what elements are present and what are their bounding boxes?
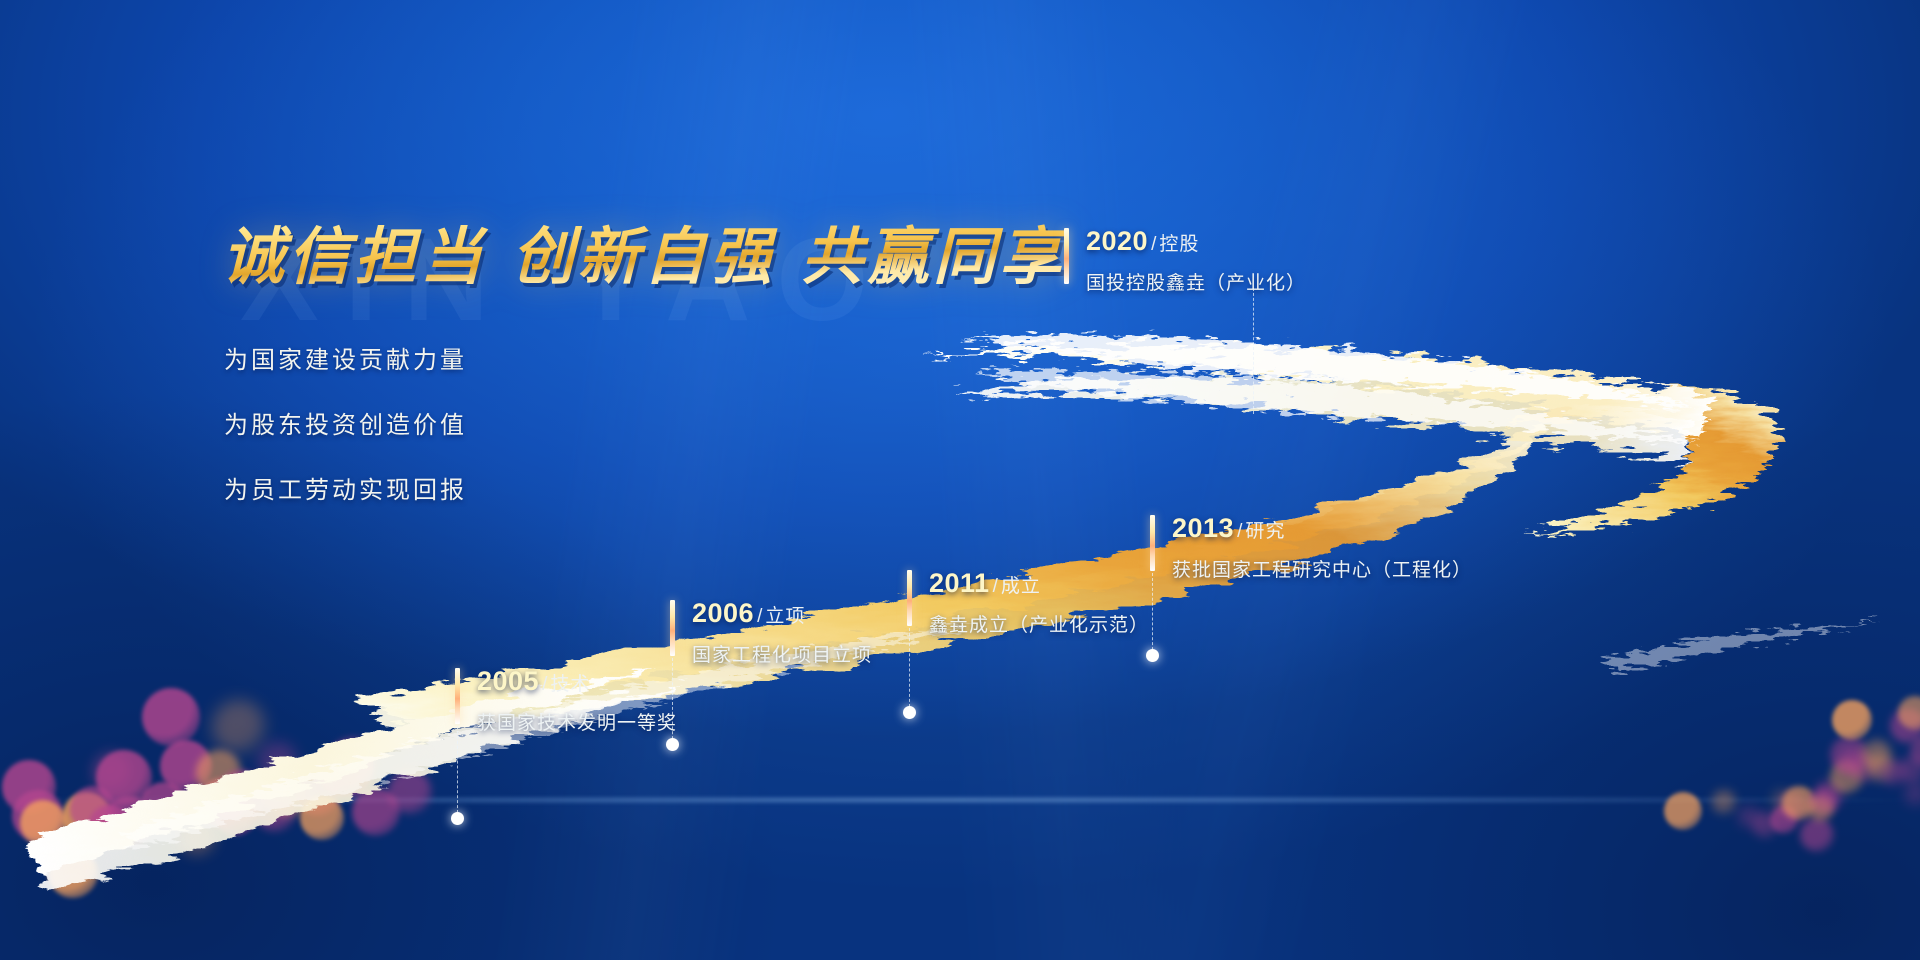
timeline-dot-2005[interactable] [451, 812, 464, 825]
bokeh-light [20, 800, 66, 846]
slogan-item: 为国家建设贡献力量 [224, 340, 467, 375]
leader-line-2005 [457, 726, 458, 818]
marker-category: 技术 [550, 674, 590, 695]
marker-heading: 2013/研究 [1172, 513, 1472, 544]
leader-line-2020 [1253, 288, 1254, 414]
marker-text: 2006/立项 国家工程化项目立项 [692, 598, 872, 667]
bokeh-light [142, 688, 200, 746]
bokeh-light [1800, 818, 1834, 852]
marker-text: 2005/技术 获国家技术发明一等奖 [477, 666, 677, 735]
bokeh-light [300, 796, 344, 840]
bokeh-light [48, 848, 98, 898]
slogan-item: 为股东投资创造价值 [224, 405, 467, 440]
marker-year: 2005 [477, 666, 539, 696]
timeline-dot-2006[interactable] [666, 738, 679, 751]
bokeh-light [212, 700, 266, 754]
marker-text: 2020/控股 国投控股鑫垚（产业化） [1086, 226, 1306, 295]
marker-accent-bar [1150, 515, 1155, 571]
marker-heading: 2011/成立 [929, 568, 1149, 599]
marker-description: 国家工程化项目立项 [692, 640, 872, 667]
marker-text: 2013/研究 获批国家工程研究中心（工程化） [1172, 513, 1472, 582]
marker-accent-bar [455, 668, 460, 724]
timeline-dot-2011[interactable] [903, 706, 916, 719]
marker-description: 鑫垚成立（产业化示范） [929, 610, 1149, 637]
marker-category: 立项 [765, 606, 805, 627]
marker-description: 获国家技术发明一等奖 [477, 708, 677, 735]
leader-line-2013 [1152, 573, 1153, 655]
marker-accent-bar [670, 600, 675, 656]
leader-line-2006 [672, 658, 673, 744]
bokeh-light [388, 770, 432, 814]
marker-heading: 2020/控股 [1086, 226, 1306, 257]
marker-heading: 2005/技术 [477, 666, 677, 697]
bokeh-light [180, 820, 216, 856]
marker-year: 2013 [1172, 513, 1234, 543]
bokeh-light [1712, 790, 1736, 814]
marker-accent-bar [907, 570, 912, 626]
bokeh-light [330, 738, 376, 784]
marker-description: 国投控股鑫垚（产业化） [1086, 268, 1306, 295]
marker-category: 控股 [1159, 234, 1199, 255]
marker-heading: 2006/立项 [692, 598, 872, 629]
marker-separator: / [1151, 234, 1156, 255]
marker-separator: / [993, 576, 998, 597]
marker-description: 获批国家工程研究中心（工程化） [1172, 555, 1472, 582]
slogan-list: 为国家建设贡献力量 为股东投资创造价值 为员工劳动实现回报 [224, 340, 467, 535]
marker-year: 2020 [1086, 226, 1148, 256]
marker-separator: / [757, 606, 762, 627]
bokeh-light [1832, 700, 1872, 740]
marker-year: 2011 [929, 568, 990, 598]
banner-canvas: XIN YAO 诚信担当 创新自强 共赢同享 为国家建设贡献力量 为股东投资创造… [0, 0, 1920, 960]
marker-category: 研究 [1245, 521, 1285, 542]
bokeh-light [1664, 792, 1702, 830]
marker-accent-bar [1064, 228, 1069, 284]
marker-year: 2006 [692, 598, 754, 628]
bokeh-light [258, 742, 298, 782]
marker-category: 成立 [1001, 576, 1041, 597]
marker-separator: / [1237, 521, 1242, 542]
leader-line-2011 [909, 628, 910, 712]
slogan-item: 为员工劳动实现回报 [224, 470, 467, 505]
bokeh-light [254, 790, 296, 832]
bokeh-light [1752, 812, 1778, 838]
marker-separator: / [542, 674, 547, 695]
marker-text: 2011/成立 鑫垚成立（产业化示范） [929, 568, 1149, 637]
timeline-dot-2013[interactable] [1146, 649, 1159, 662]
page-title: 诚信担当 创新自强 共赢同享 [222, 206, 1065, 296]
